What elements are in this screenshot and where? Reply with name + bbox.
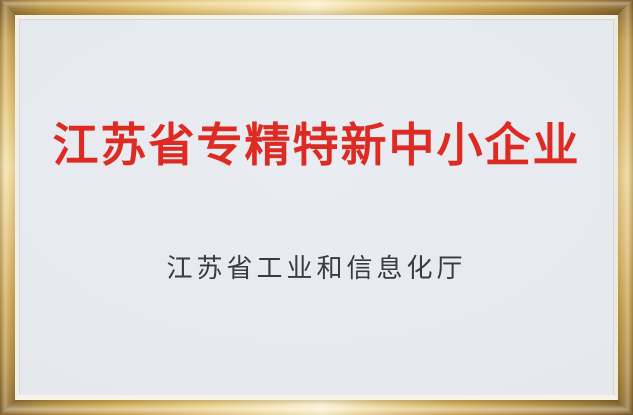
frame-right-gold-bar bbox=[618, 0, 633, 415]
plaque-title: 江苏省专精特新中小企业 bbox=[20, 116, 613, 174]
plaque-issuer: 江苏省工业和信息化厅 bbox=[20, 250, 613, 286]
award-plaque: 江苏省专精特新中小企业 江苏省工业和信息化厅 bbox=[0, 0, 633, 415]
frame-top-gold-bar bbox=[0, 0, 633, 15]
frame-bottom-gold-bar bbox=[0, 400, 633, 415]
frame-left-gold-bar bbox=[0, 0, 15, 415]
plaque-panel: 江苏省专精特新中小企业 江苏省工业和信息化厅 bbox=[20, 20, 613, 395]
